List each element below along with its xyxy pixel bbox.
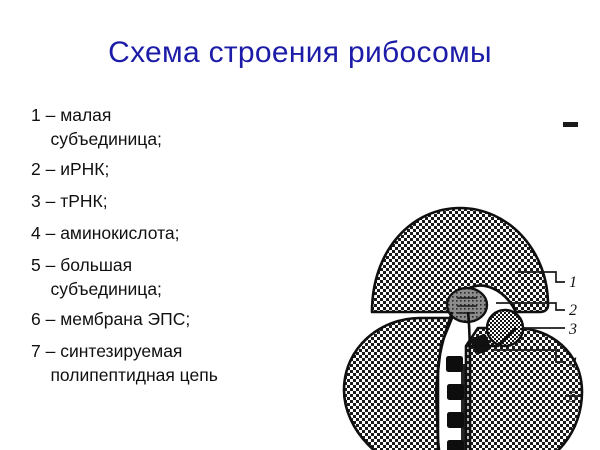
callout-number-4: 4 [569, 355, 577, 372]
legend-item-3: 3 – тРНК; [31, 190, 301, 214]
ribosome-diagram: 1 2 3 4 5 6 7 [320, 100, 600, 450]
slide-canvas: Схема строения рибосомы 1 – малая субъед… [0, 0, 600, 450]
legend-item-2: 2 – иРНК; [31, 158, 301, 182]
scan-artifact-mark [563, 122, 578, 127]
page-title: Схема строения рибосомы [0, 36, 600, 70]
legend-item-4: 4 – аминокислота; [31, 222, 301, 246]
legend-item-1: 1 – малая субъединица; [31, 104, 301, 151]
legend-item-6: 6 – мембрана ЭПС; [31, 308, 301, 332]
callout-number-2: 2 [569, 302, 577, 319]
legend-item-5: 5 – большая субъединица; [31, 254, 301, 301]
legend-item-7: 7 – синтезируемая полипептидная цепь [31, 340, 301, 387]
callout-number-3: 3 [568, 321, 577, 338]
legend-list: 1 – малая субъединица; 2 – иРНК; 3 – тРН… [31, 104, 301, 394]
callout-number-1: 1 [569, 274, 577, 291]
callout-number-5: 5 [569, 389, 577, 406]
mrna [447, 288, 487, 322]
